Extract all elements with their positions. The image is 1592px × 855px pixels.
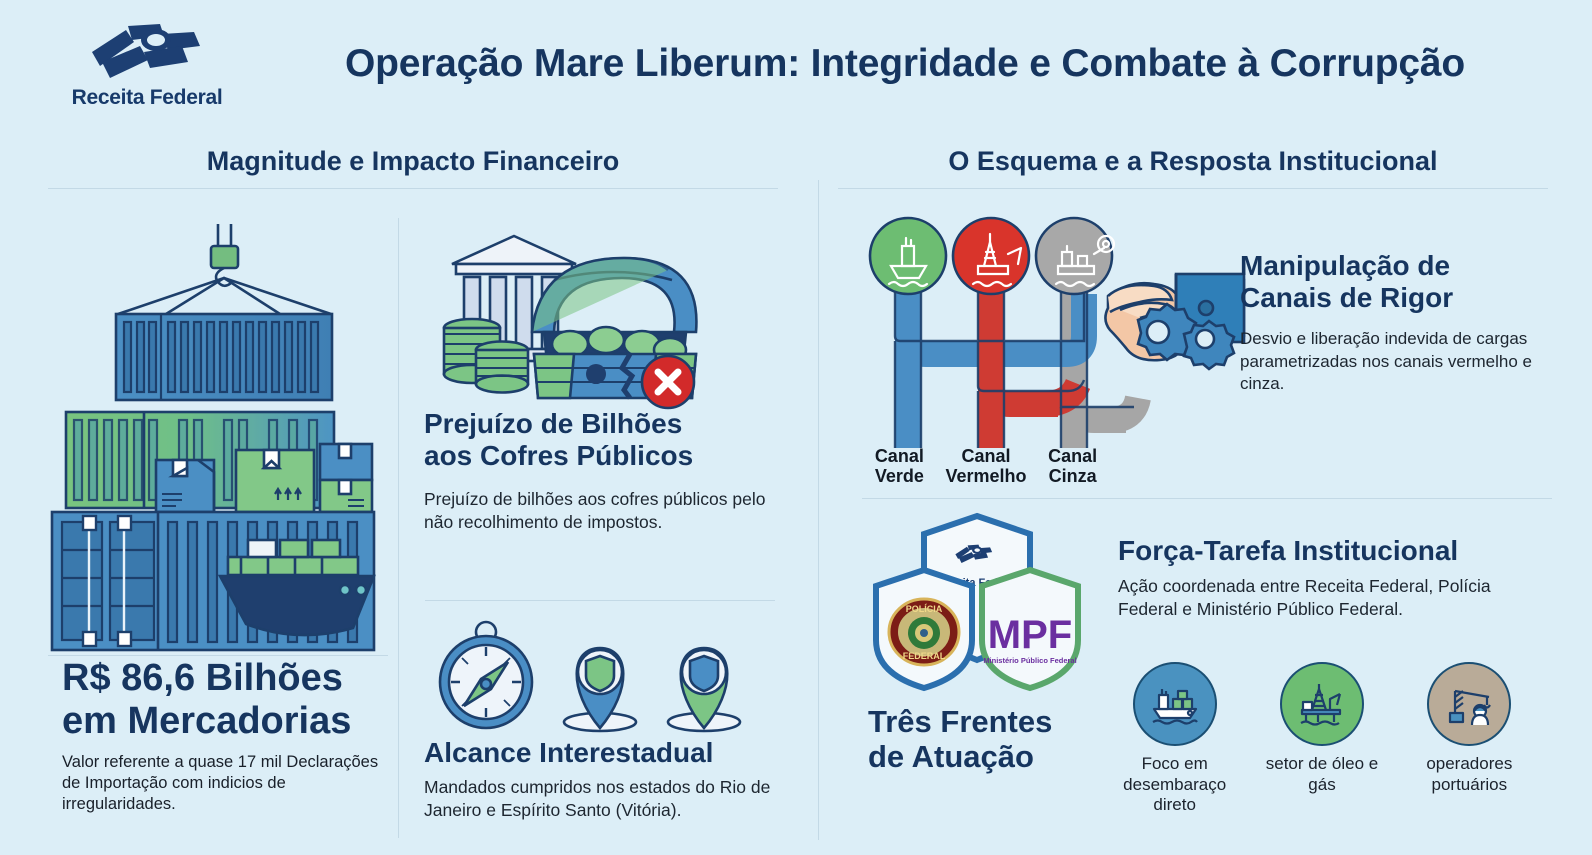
- channel-label-verde: Canal Verde: [856, 446, 943, 486]
- receita-federal-logo: Receita Federal: [62, 22, 232, 118]
- section-heading-right: O Esquema e a Resposta Institucional: [838, 146, 1548, 177]
- channel-pipes-hand-gears-icon: [858, 208, 1244, 448]
- three-shields-emblem: Receita Federal POLÍCIA FEDERAL MPF Mini…: [872, 508, 1082, 688]
- shield-label-mpf-sub: Ministério Público Federal: [983, 656, 1076, 665]
- svg-text:POLÍCIA: POLÍCIA: [906, 604, 943, 614]
- canal-vermelho-icon: [953, 218, 1029, 294]
- title-prejuizo-line1: Prejuízo de Bilhões: [424, 408, 682, 439]
- left-heading-rule: [48, 188, 778, 189]
- title-forca-tarefa: Força-Tarefa Institucional: [1118, 535, 1518, 567]
- body-alcance: Mandados cumpridos nos estados do Rio de…: [424, 776, 804, 823]
- left-sub-rule: [425, 600, 775, 601]
- canal-verde-icon: [870, 218, 946, 294]
- oil-platform-icon: [1280, 662, 1364, 746]
- title-prejuizo: Prejuízo de Bilhões aos Cofres Públicos: [424, 408, 784, 472]
- stat-mercadorias-line2: em Mercadorias: [62, 700, 351, 742]
- receita-federal-logo-icon: [82, 22, 212, 84]
- infographic-page: Receita Federal Operação Mare Liberum: I…: [0, 0, 1592, 855]
- column-divider: [818, 180, 819, 840]
- stat-tres-frentes: Três Frentes de Atuação: [868, 705, 1108, 774]
- title-prejuizo-line2: aos Cofres Públicos: [424, 440, 693, 471]
- stat-tres-frentes-line2: de Atuação: [868, 739, 1034, 774]
- canal-cinza-icon: [1036, 218, 1112, 294]
- header: Receita Federal Operação Mare Liberum: I…: [0, 0, 1592, 128]
- stat-tres-frentes-line1: Três Frentes: [868, 704, 1052, 739]
- stat-mercadorias-line1: R$ 86,6 Bilhões: [62, 657, 343, 699]
- cargo-ship-icon: [1133, 662, 1217, 746]
- shield-label-mpf: MPF: [988, 613, 1072, 657]
- body-prejuizo: Prejuízo de bilhões aos cofres públicos …: [424, 488, 784, 535]
- left-bottom-rule: [48, 655, 388, 656]
- caption-mercadorias: Valor referente a quase 17 mil Declaraçõ…: [62, 752, 392, 815]
- title-manipulacao-line2: Canais de Rigor: [1240, 282, 1453, 313]
- title-manipulacao: Manipulação de Canais de Rigor: [1240, 250, 1570, 314]
- title-manipulacao-line1: Manipulação de: [1240, 250, 1450, 281]
- body-manipulacao: Desvio e liberação indevida de cargas pa…: [1240, 328, 1570, 396]
- logo-text: Receita Federal: [62, 86, 232, 110]
- front-item-desembaraco: Foco em desembaraço direto: [1112, 662, 1237, 816]
- front-label-desembaraco: Foco em desembaraço direto: [1112, 754, 1237, 816]
- svg-text:FEDERAL: FEDERAL: [903, 651, 946, 661]
- container-ship-crane-icon: [48, 222, 400, 654]
- page-title: Operação Mare Liberum: Integridade e Com…: [230, 42, 1580, 86]
- compass-map-pins-icon: [428, 614, 768, 734]
- front-item-oleo-gas: setor de óleo e gás: [1259, 662, 1384, 816]
- port-crane-worker-icon: [1427, 662, 1511, 746]
- treasure-chest-bank-icon: [424, 222, 704, 402]
- front-label-portuarios: operadores portuários: [1407, 754, 1532, 795]
- body-forca-tarefa: Ação coordenada entre Receita Federal, P…: [1118, 575, 1518, 622]
- right-sub-rule: [862, 498, 1552, 499]
- front-label-oleo-gas: setor de óleo e gás: [1259, 754, 1384, 795]
- right-heading-rule: [838, 188, 1548, 189]
- section-heading-left: Magnitude e Impacto Financeiro: [48, 146, 778, 177]
- front-item-portuarios: operadores portuários: [1407, 662, 1532, 816]
- stat-mercadorias: R$ 86,6 Bilhões em Mercadorias: [62, 657, 402, 742]
- channel-labels: Canal Verde Canal Vermelho Canal Cinza: [856, 446, 1116, 486]
- channel-label-cinza: Canal Cinza: [1029, 446, 1116, 486]
- fronts-row: Foco em desembaraço direto: [1112, 662, 1532, 816]
- channel-label-vermelho: Canal Vermelho: [943, 446, 1030, 486]
- title-alcance: Alcance Interestadual: [424, 737, 794, 769]
